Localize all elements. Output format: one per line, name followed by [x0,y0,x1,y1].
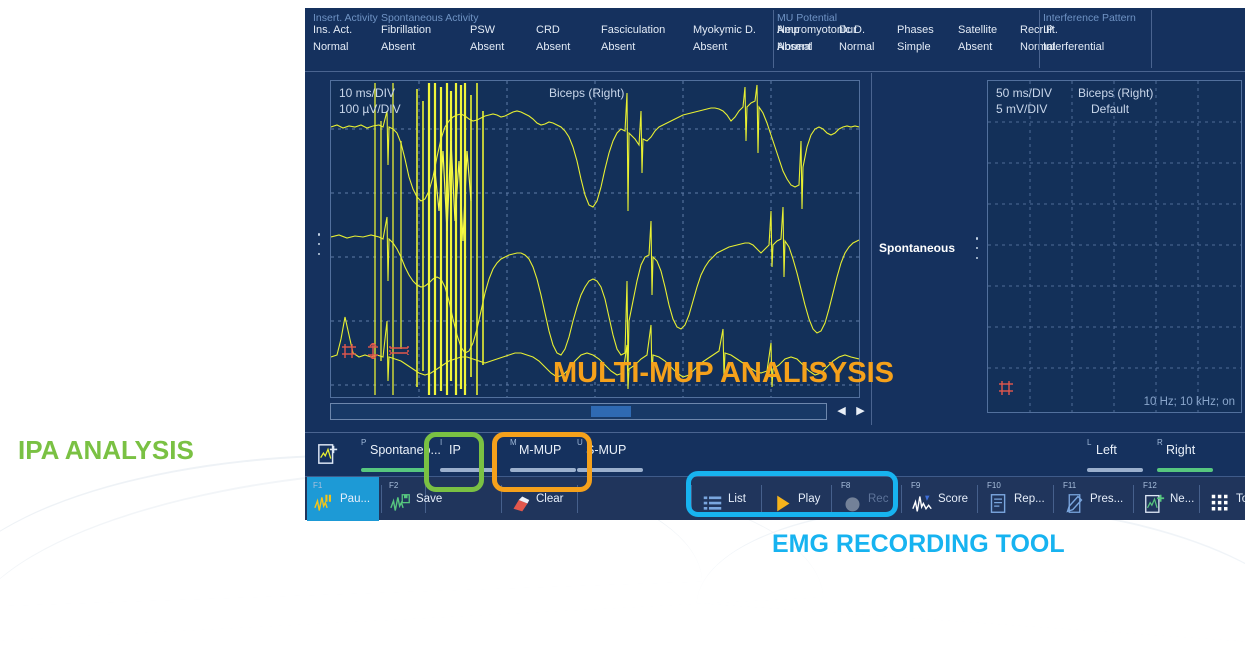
spontaneous-grid [988,81,1241,412]
report-icon [988,489,1009,510]
findings-column-name: Fibrillation [381,22,467,39]
new-exam-icon [1144,489,1165,510]
toolbar-separator [761,485,762,513]
toolbar-button-list[interactable]: List [695,477,757,521]
tab-shortcut-key: I [440,438,442,447]
emg-application-window: Insert. ActivitySpontaneous ActivityMU P… [305,8,1245,520]
save-emg-icon [390,489,411,510]
left-panel-kebab-menu-icon[interactable] [314,233,324,255]
toolbar-separator [691,485,692,513]
toolbar-separator [381,485,382,513]
toolbar-button-label: Play [798,493,820,505]
tab-m-mup[interactable]: MM-MUP [510,438,582,472]
toolbar-separator [577,485,578,513]
eraser-icon [510,489,531,510]
tab-right[interactable]: RRight [1157,438,1219,472]
toolbar-button-ne[interactable]: F12Ne... [1137,477,1201,521]
toolbar-button-label: Tools [1236,493,1245,505]
spontaneous-grid-cursor-icon[interactable] [998,380,1014,396]
annotation-emg-recording: EMG RECORDING TOOL [772,530,1065,559]
findings-divider [773,10,774,68]
findings-column-value[interactable]: Absent [601,39,687,56]
tab-spontaneo[interactable]: PSpontaneo... [361,438,433,472]
duration-cursor-icon[interactable] [389,345,409,357]
toolbar-button-rec: F8Rec [835,477,897,521]
findings-summary-header: Insert. ActivitySpontaneous ActivityMU P… [305,8,1245,72]
tab-indicator-bar [510,468,576,472]
annotation-multi-mup: MULTI-MUP ANALISYSIS [553,357,894,390]
spontaneous-waveform-display[interactable]: 50 ms/DIV 5 mV/DIV Biceps (Right) Defaul… [987,80,1242,413]
list-icon [702,489,723,510]
findings-column[interactable]: FibrillationAbsent [381,22,467,56]
toolbar-button-pres[interactable]: F11Pres... [1057,477,1131,521]
scrollbar-thumb[interactable] [591,406,631,417]
grid-cursor-icon[interactable] [341,343,357,359]
findings-column-name: Myokymic D. [693,22,779,39]
toolbar-button-save[interactable]: F2Save [383,477,455,521]
tab-shortcut-key: M [510,438,517,447]
toolbar-button-label: Rec [868,493,888,505]
tab-indicator-bar [577,468,643,472]
findings-column[interactable]: IPInterferential [1043,22,1129,56]
tab-indicator-bar [1087,468,1143,472]
tab-shortcut-key: U [577,438,583,447]
record-icon [842,489,863,510]
tab-label: Spontaneo... [370,443,441,457]
findings-divider [1039,10,1040,68]
play-icon [772,489,793,510]
grid-tools-icon [1210,489,1231,510]
tab-indicator-bar [361,468,427,472]
toolbar-separator [977,485,978,513]
toolbar-button-label: List [728,493,746,505]
waveform-horizontal-scrollbar[interactable] [330,403,827,420]
toolbar-button-score[interactable]: F9Score [905,477,975,521]
bottom-toolbar: F1Pau...F2SaveClearListPlayF8RecF9ScoreF… [305,476,1245,520]
toolbar-button-label: Save [416,493,442,505]
toolbar-button-label: Pres... [1090,493,1123,505]
spontaneous-section-title: Spontaneous [879,241,955,255]
prescription-icon [1064,489,1085,510]
annotation-ipa-analysis: IPA ANALYSIS [18,435,194,466]
tab-ip[interactable]: IIP [440,438,502,472]
toolbar-function-key: F1 [313,481,322,490]
tab-indicator-bar [440,468,496,472]
tab-label: IP [449,443,461,457]
scroll-right-icon[interactable]: ▶ [852,403,869,420]
toolbar-button-label: Clear [536,493,563,505]
new-study-icon[interactable] [317,443,339,465]
pause-emg-icon [314,489,335,510]
toolbar-function-key: F2 [389,481,398,490]
findings-divider [1151,10,1152,68]
toolbar-separator [1133,485,1134,513]
toolbar-button-label: Rep... [1014,493,1045,505]
tab-s-mup[interactable]: US-MUP [577,438,649,472]
toolbar-function-key: F12 [1143,481,1157,490]
toolbar-button-rep[interactable]: F10Rep... [981,477,1051,521]
findings-column[interactable]: Myokymic D.Absent [693,22,779,56]
filter-settings-label: 10 Hz; 10 kHz; on [1144,396,1235,408]
toolbar-button-label: Score [938,493,968,505]
toolbar-function-key: F11 [1063,481,1076,490]
tab-label: Right [1166,443,1195,457]
tab-shortcut-key: P [361,438,366,447]
tab-label: Left [1096,443,1117,457]
toolbar-separator [1053,485,1054,513]
findings-column-value[interactable]: Interferential [1043,39,1129,56]
findings-column-name: Fasciculation [601,22,687,39]
toolbar-function-key: F9 [911,481,920,490]
toolbar-button-play[interactable]: Play [765,477,827,521]
study-tab-strip: PSpontaneo...IIPMM-MUPUS-MUP LLeftRRight [305,432,1245,476]
toolbar-function-key: F10 [987,481,1001,490]
scroll-left-icon[interactable]: ◀ [833,403,850,420]
toolbar-separator [831,485,832,513]
toolbar-button-label: Pau... [340,493,370,505]
emg-traces [331,81,859,397]
tab-label: S-MUP [586,443,626,457]
tab-left[interactable]: LLeft [1087,438,1149,472]
findings-column[interactable]: FasciculationAbsent [601,22,687,56]
findings-column-value[interactable]: Absent [381,39,467,56]
toolbar-separator [501,485,502,513]
score-wave-icon [912,489,933,510]
tab-shortcut-key: L [1087,438,1091,447]
right-panel-kebab-menu-icon[interactable] [972,237,982,259]
toolbar-button-clear[interactable]: Clear [503,477,575,521]
tab-shortcut-key: R [1157,438,1163,447]
toolbar-button-label: Ne... [1170,493,1194,505]
spontaneous-panel: Spontaneous [875,73,1245,432]
toolbar-button-tools[interactable]: Tools [1203,477,1245,521]
findings-column-value[interactable]: Absent [693,39,779,56]
toolbar-button-pau[interactable]: F1Pau... [307,477,379,521]
findings-column-name: IP [1043,22,1129,39]
toolbar-separator [901,485,902,513]
tab-indicator-bar [1157,468,1213,472]
tab-label: M-MUP [519,443,561,457]
emg-waveform-display[interactable]: 10 ms/DIV 100 µV/DIV Biceps (Right) [330,80,860,398]
amplitude-cursor-icon[interactable] [367,343,379,359]
